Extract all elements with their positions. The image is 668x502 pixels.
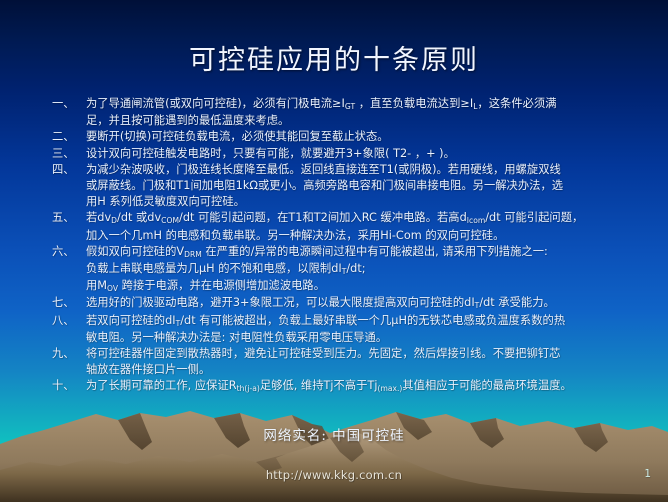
principle-line: 用H 系列低灵敏度双向可控硅。: [86, 194, 652, 210]
principle-line: 足，并且按可能遇到的最低温度来考虑。: [86, 113, 652, 129]
principle-text: 若dvD/dt 或dvCOM/dt 可能引起问题，在T1和T2间加入RC 缓冲电…: [86, 210, 652, 243]
principle-marker: 八、: [52, 313, 86, 329]
principle-marker: 二、: [52, 129, 86, 145]
principle-text: 设计双向可控硅触发电路时，只要有可能，就要避开3+象限( T2- ，+ )。: [86, 146, 652, 162]
principle-line: 为减少杂波吸收，门极连线长度降至最低。返回线直接连至T1(或阴极)。若用硬线，用…: [86, 162, 652, 178]
principle-line: 为了长期可靠的工作, 应保证Rth(j-a)足够低, 维持Tj不高于Tj(max…: [86, 378, 652, 395]
principle-line: 若dvD/dt 或dvCOM/dt 可能引起问题，在T1和T2间加入RC 缓冲电…: [86, 210, 652, 227]
principle-line: 假如双向可控硅的VDRM 在严重的/异常的电源瞬间过程中有可能被超出, 请采用下…: [86, 244, 652, 261]
principle-item: 四、为减少杂波吸收，门极连线长度降至最低。返回线直接连至T1(或阴极)。若用硬线…: [52, 162, 652, 211]
principle-line: 负载上串联电感量为几μH 的不饱和电感，以限制dIT/dt;: [86, 261, 652, 278]
principle-text: 为了导通闸流管(或双向可控硅)，必须有门极电流≥IGT ，直至负载电流达到≥IL…: [86, 96, 652, 129]
principle-item: 六、假如双向可控硅的VDRM 在严重的/异常的电源瞬间过程中有可能被超出, 请采…: [52, 244, 652, 296]
principle-marker: 五、: [52, 210, 86, 226]
principle-text: 若双向可控硅的dIT/dt 有可能被超出，负载上最好串联一个几μH的无铁芯电感或…: [86, 313, 652, 346]
principle-text: 为了长期可靠的工作, 应保证Rth(j-a)足够低, 维持Tj不高于Tj(max…: [86, 378, 652, 395]
source-url: http://www.kkg.com.cn: [0, 468, 668, 482]
slide-title: 可控硅应用的十条原则: [0, 38, 668, 77]
principle-line: 设计双向可控硅触发电路时，只要有可能，就要避开3+象限( T2- ，+ )。: [86, 146, 652, 162]
principle-line: 为了导通闸流管(或双向可控硅)，必须有门极电流≥IGT ，直至负载电流达到≥IL…: [86, 96, 652, 113]
principle-marker: 九、: [52, 346, 86, 362]
principles-list: 一、为了导通闸流管(或双向可控硅)，必须有门极电流≥IGT ，直至负载电流达到≥…: [52, 96, 652, 396]
principle-text: 选用好的门极驱动电路，避开3+象限工况，可以最大限度提高双向可控硅的dIT/dt…: [86, 295, 652, 312]
presentation-slide: 可控硅应用的十条原则 一、为了导通闸流管(或双向可控硅)，必须有门极电流≥IGT…: [0, 0, 668, 502]
principle-item: 七、选用好的门极驱动电路，避开3+象限工况，可以最大限度提高双向可控硅的dIT/…: [52, 295, 652, 312]
principle-line: 要断开(切换)可控硅负载电流，必须使其能回复至截止状态。: [86, 129, 652, 145]
principle-marker: 一、: [52, 96, 86, 112]
principle-item: 十、为了长期可靠的工作, 应保证Rth(j-a)足够低, 维持Tj不高于Tj(m…: [52, 378, 652, 395]
page-number: 1: [644, 468, 651, 480]
principle-line: 用MOV 跨接于电源，并在电源侧增加滤波电路。: [86, 278, 652, 295]
principle-item: 八、若双向可控硅的dIT/dt 有可能被超出，负载上最好串联一个几μH的无铁芯电…: [52, 313, 652, 346]
principle-text: 假如双向可控硅的VDRM 在严重的/异常的电源瞬间过程中有可能被超出, 请采用下…: [86, 244, 652, 296]
principle-line: 选用好的门极驱动电路，避开3+象限工况，可以最大限度提高双向可控硅的dIT/dt…: [86, 295, 652, 312]
principle-line: 若双向可控硅的dIT/dt 有可能被超出，负载上最好串联一个几μH的无铁芯电感或…: [86, 313, 652, 330]
principle-marker: 七、: [52, 295, 86, 311]
principle-text: 要断开(切换)可控硅负载电流，必须使其能回复至截止状态。: [86, 129, 652, 145]
principle-line: 将可控硅器件固定到散热器时，避免让可控硅受到压力。先固定，然后焊接引线。不要把铆…: [86, 346, 652, 362]
credit-line: 网络实名: 中国可控硅: [0, 424, 668, 444]
principle-marker: 十、: [52, 378, 86, 394]
principle-marker: 四、: [52, 162, 86, 178]
principle-marker: 三、: [52, 146, 86, 162]
principle-line: 敏电阻。另一种解决办法是: 对电阻性负载采用零电压导通。: [86, 330, 652, 346]
principle-text: 为减少杂波吸收，门极连线长度降至最低。返回线直接连至T1(或阴极)。若用硬线，用…: [86, 162, 652, 211]
principle-line: 或屏蔽线。门极和T1间加电阻1kΩ或更小。高频旁路电容和门极间串接电阻。另一解决…: [86, 178, 652, 194]
principle-item: 九、将可控硅器件固定到散热器时，避免让可控硅受到压力。先固定，然后焊接引线。不要…: [52, 346, 652, 378]
principle-item: 三、设计双向可控硅触发电路时，只要有可能，就要避开3+象限( T2- ，+ )。: [52, 146, 652, 162]
principle-line: 轴放在器件接口片一侧。: [86, 362, 652, 378]
principle-item: 二、要断开(切换)可控硅负载电流，必须使其能回复至截止状态。: [52, 129, 652, 145]
principle-text: 将可控硅器件固定到散热器时，避免让可控硅受到压力。先固定，然后焊接引线。不要把铆…: [86, 346, 652, 378]
principle-item: 五、若dvD/dt 或dvCOM/dt 可能引起问题，在T1和T2间加入RC 缓…: [52, 210, 652, 243]
principle-line: 加入一个几mH 的电感和负载串联。另一种解决办法，采用Hi-Com 的双向可控硅…: [86, 228, 652, 244]
mountain-landscape-graphic: [0, 392, 668, 502]
principle-item: 一、为了导通闸流管(或双向可控硅)，必须有门极电流≥IGT ，直至负载电流达到≥…: [52, 96, 652, 129]
principle-marker: 六、: [52, 244, 86, 260]
